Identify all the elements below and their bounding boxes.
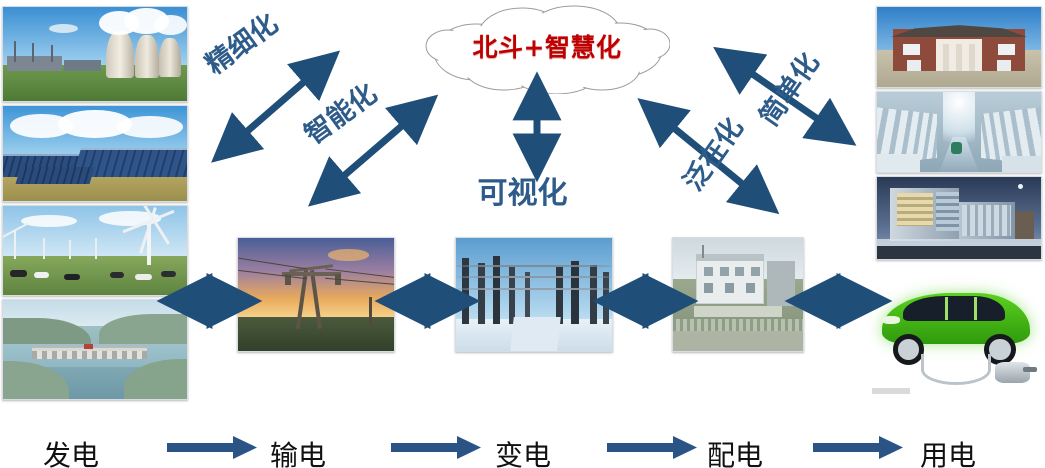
label-keshihua: 可视化 (0, 168, 1045, 212)
transmission-tower-photo (237, 237, 395, 352)
stage-label-generation: 发电 (43, 434, 99, 468)
label-jingxihua: 精细化 (196, 2, 284, 81)
flow-arrow-2 (391, 436, 481, 459)
residential-house-photo (876, 6, 1042, 88)
substation-photo (455, 237, 613, 352)
flow-arrow-4 (813, 436, 903, 459)
cloud-label: 北斗+智慧化 (424, 28, 670, 64)
thermal-power-plant-photo (2, 6, 188, 102)
label-zhinenghua: 智能化 (295, 72, 383, 151)
factory-interior-photo (876, 91, 1042, 173)
stage-label-transform: 变电 (495, 434, 551, 468)
distribution-station-photo (672, 237, 804, 352)
label-jiandanhua: 简单化 (748, 44, 826, 133)
stage-label-transmission: 输电 (270, 434, 326, 468)
flow-arrow-1 (167, 436, 257, 459)
diagram-canvas: 北斗+智慧化 (0, 0, 1045, 468)
cloud-callout: 北斗+智慧化 (424, 2, 670, 94)
stage-label-distribution: 配电 (707, 434, 763, 468)
hydro-dam-photo (2, 299, 188, 400)
stage-label-consumption: 用电 (920, 434, 976, 468)
wind-farm-photo (2, 205, 188, 296)
flow-arrow-3 (607, 436, 697, 459)
electric-vehicle-photo (868, 270, 1044, 398)
